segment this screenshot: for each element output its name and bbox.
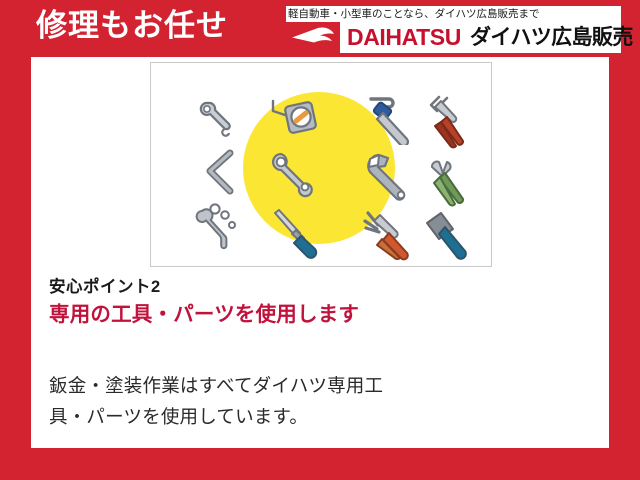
tools-illustration-frame (150, 62, 492, 267)
hammer-icon (423, 211, 477, 263)
dealer-logo-block: 軽自動車・小型車のことなら、ダイハツ広島販売まで DAIHATSU ダイハツ広島… (286, 6, 621, 53)
caption-block: 安心ポイント2 専用の工具・パーツを使用します (49, 276, 594, 326)
lineman-pliers-icon (362, 209, 416, 261)
point-title: 専用の工具・パーツを使用します (49, 303, 399, 326)
content-panel: 安心ポイント2 専用の工具・パーツを使用します 鈑金・塗装作業はすべてダイハツ専… (31, 57, 609, 448)
flat-screwdriver-icon (270, 209, 322, 259)
socket-wrench-set-icon (195, 203, 247, 251)
open-end-wrench-icon (198, 99, 238, 139)
tape-measure-icon (267, 95, 319, 141)
adjustable-wrench-icon (365, 153, 417, 205)
logo-dealer-text: ダイハツ広島販売 (470, 22, 633, 53)
logo-brand-text: DAIHATSU (347, 22, 461, 53)
hex-key-icon (200, 149, 240, 197)
daihatsu-d-mark-icon (286, 22, 340, 53)
page-title: 修理もお任せ (36, 7, 228, 45)
box-end-wrench-icon (270, 151, 316, 199)
logo-tagline: 軽自動車・小型車のことなら、ダイハツ広島販売まで (288, 7, 619, 22)
diagonal-pliers-green-icon (425, 159, 473, 211)
header-bar: 修理もお任せ 軽自動車・小型車のことなら、ダイハツ広島販売まで DAIHATSU… (0, 0, 640, 57)
logo-row: DAIHATSU ダイハツ広島販売 (286, 22, 621, 53)
pipe-wrench-icon (363, 93, 417, 145)
long-nose-pliers-red-icon (423, 95, 471, 151)
body-paragraph: 鈑金・塗装作業はすべてダイハツ専用工具・パーツを使用しています。 (49, 370, 399, 432)
point-label: 安心ポイント2 (49, 276, 594, 298)
slide-root: 修理もお任せ 軽自動車・小型車のことなら、ダイハツ広島販売まで DAIHATSU… (0, 0, 640, 480)
